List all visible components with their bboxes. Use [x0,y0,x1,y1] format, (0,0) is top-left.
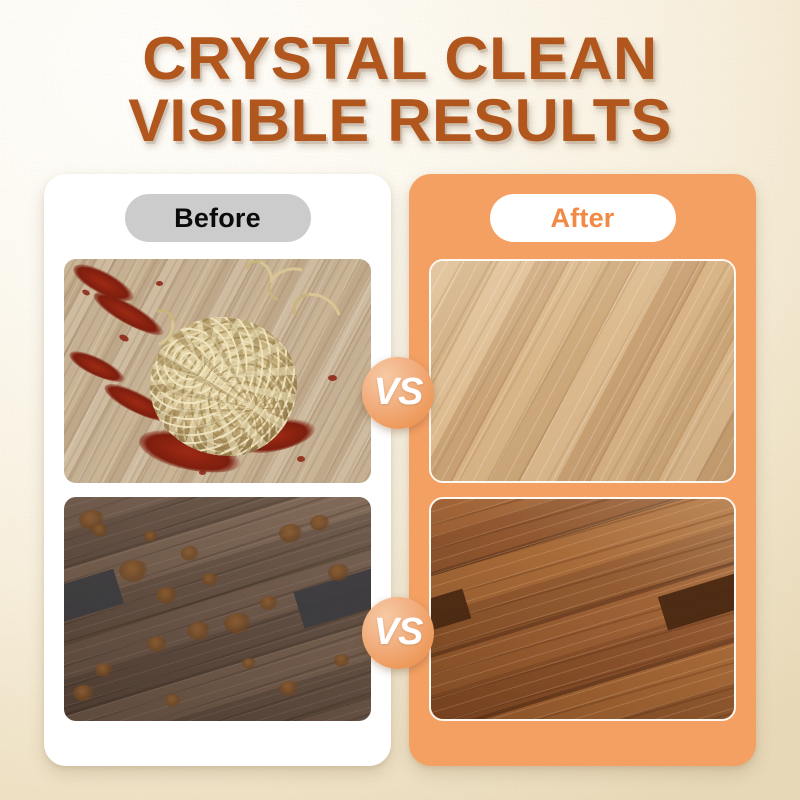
dirt-stain [260,596,278,610]
after-label-pill: After [490,194,676,242]
dirt-stain [144,531,158,542]
after-shot-clean-light-floor [429,259,736,483]
before-label-text: Before [174,203,261,234]
after-label-text: After [550,203,614,234]
vs-badge-label: VS [374,373,423,411]
before-label-pill: Before [125,194,311,242]
headline-line-1: CRYSTAL CLEAN [0,28,800,90]
dirt-stain [119,560,149,582]
dirt-stain [181,546,199,561]
comparison-panels: Before [44,174,756,766]
dirt-stain [279,681,299,696]
dirt-stain [156,587,178,604]
promo-canvas: CRYSTAL CLEAN VISIBLE RESULTS Before [0,0,800,800]
dirt-stain [95,663,113,677]
before-panel: Before [44,174,391,766]
vs-badge-label: VS [374,613,423,651]
page-title: CRYSTAL CLEAN VISIBLE RESULTS [0,28,800,152]
vs-badge-top: VS [362,357,434,429]
vs-badge-bottom: VS [362,597,434,669]
sauce-drop [199,470,206,475]
dirt-stain [334,654,350,667]
dirt-stain [147,636,167,652]
dirt-stain [279,524,303,543]
after-panel: After [409,174,756,766]
clean-light-wood-texture [431,261,734,481]
before-shot-spaghetti [64,259,371,483]
dirt-stain [92,524,108,537]
headline-line-2: VISIBLE RESULTS [0,90,800,152]
dirt-stain [310,515,330,531]
before-shot-stained-floor [64,497,371,721]
after-shot-clean-dark-floor [429,497,736,721]
spaghetti-pile [150,317,297,456]
